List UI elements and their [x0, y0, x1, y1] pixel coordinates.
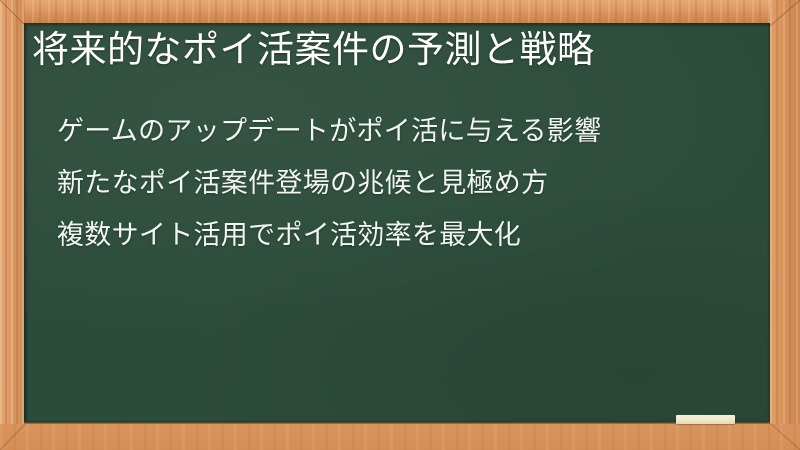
page-title: 将来的なポイ活案件の予測と戦略	[32, 26, 732, 74]
frame-rail-top	[0, 0, 800, 23]
list-item: ゲームのアップデートがポイ活に与える影響	[57, 105, 747, 157]
frame-stile-left	[0, 0, 24, 450]
list-item: 複数サイト活用でポイ活効率を最大化	[57, 209, 747, 261]
board-bottom-edge	[24, 421, 770, 424]
frame-ledge-bottom	[0, 424, 800, 450]
bullet-list: ゲームのアップデートがポイ活に与える影響 新たなポイ活案件登場の兆候と見極め方 …	[57, 105, 747, 261]
list-item: 新たなポイ活案件登場の兆候と見極め方	[57, 157, 747, 209]
chalkboard-slide: 将来的なポイ活案件の予測と戦略 ゲームのアップデートがポイ活に与える影響 新たな…	[0, 0, 800, 450]
chalk-stick-icon	[676, 415, 735, 424]
frame-stile-right	[770, 0, 800, 450]
